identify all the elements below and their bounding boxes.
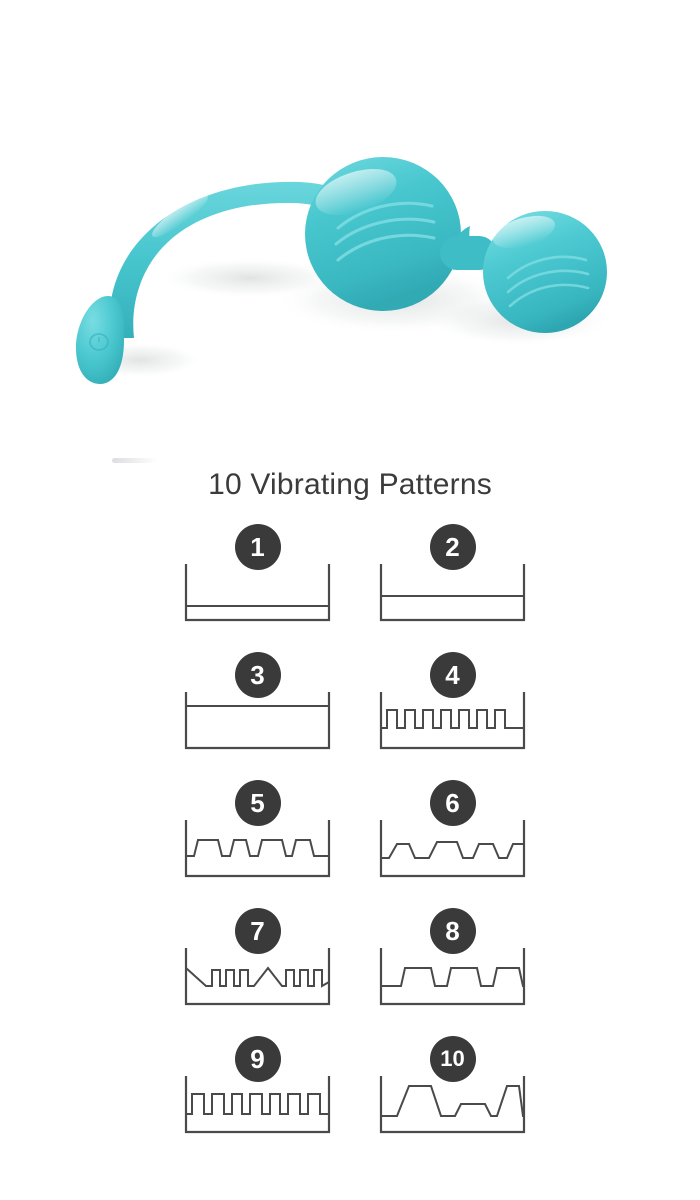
pattern-badge-3: 3 — [235, 652, 281, 698]
title-smudge — [112, 458, 158, 463]
vibrating-patterns-grid: 1 2 3 4 — [180, 524, 530, 1164]
pattern-badge-8: 8 — [430, 908, 476, 954]
pattern-item-2[interactable]: 2 — [375, 524, 530, 652]
pattern-badge-5: 5 — [235, 780, 281, 826]
pattern-badge-6: 6 — [430, 780, 476, 826]
pattern-item-8[interactable]: 8 — [375, 908, 530, 1036]
pattern-item-3[interactable]: 3 — [180, 652, 335, 780]
product-tail-bulb — [76, 296, 124, 384]
product-photo — [0, 0, 700, 430]
pattern-badge-1: 1 — [235, 524, 281, 570]
pattern-item-10[interactable]: 10 — [375, 1036, 530, 1164]
pattern-badge-7: 7 — [235, 908, 281, 954]
pattern-badge-9: 9 — [235, 1036, 281, 1082]
pattern-item-4[interactable]: 4 — [375, 652, 530, 780]
pattern-item-1[interactable]: 1 — [180, 524, 335, 652]
pattern-item-5[interactable]: 5 — [180, 780, 335, 908]
pattern-item-9[interactable]: 9 — [180, 1036, 335, 1164]
pattern-item-6[interactable]: 6 — [375, 780, 530, 908]
pattern-badge-2: 2 — [430, 524, 476, 570]
pattern-badge-4: 4 — [430, 652, 476, 698]
pattern-badge-10: 10 — [430, 1036, 476, 1082]
pattern-item-7[interactable]: 7 — [180, 908, 335, 1036]
page-title: 10 Vibrating Patterns — [0, 468, 700, 502]
